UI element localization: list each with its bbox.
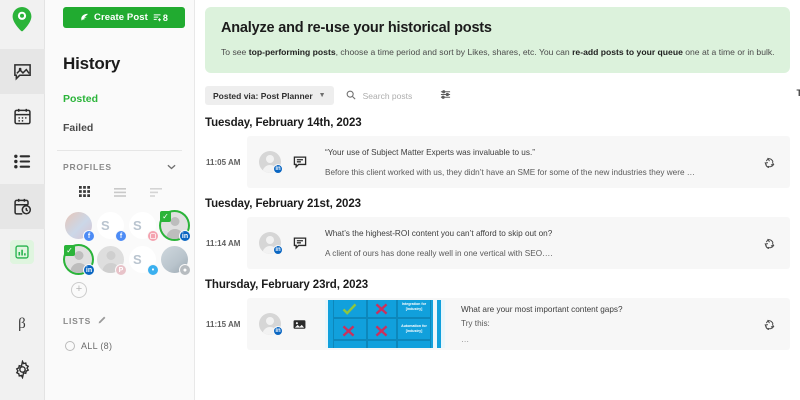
calendar-icon[interactable] [0, 94, 45, 139]
day-heading: Tuesday, February 14th, 2023 [205, 117, 800, 129]
facebook-badge-icon: f [115, 230, 127, 242]
queue-count-value: 8 [163, 13, 168, 23]
search-input[interactable] [363, 91, 433, 101]
feather-icon [80, 13, 89, 22]
posted-via-label: Posted via: Post Planner [213, 91, 313, 101]
sidebar-divider [57, 150, 182, 151]
facebook-badge-icon: f [83, 230, 95, 242]
check-icon: ✓ [160, 211, 171, 222]
profile-avatar[interactable]: S f [97, 212, 126, 241]
queue-count: 8 [153, 13, 168, 23]
instagram-badge-icon: ▢ [147, 230, 159, 242]
list-item-all[interactable]: ALL (8) [65, 341, 182, 351]
settings-gear-icon[interactable] [0, 347, 45, 392]
table-row[interactable]: 11:05 AM in “Your use of Subject Matter … [205, 136, 800, 188]
post-time: 11:15 AM [205, 298, 247, 350]
post-body: Before this client worked with us, they … [325, 168, 746, 177]
check-icon: ✓ [64, 245, 75, 256]
profile-avatar-selected[interactable]: ✓ in [161, 212, 190, 241]
profiles-section-header[interactable]: PROFILES [63, 162, 176, 172]
app-root: β Create Post 8 History Posted Failed [0, 0, 800, 400]
beta-label: β [18, 316, 26, 333]
profile-avatar[interactable]: P [97, 246, 126, 275]
search-box[interactable] [346, 86, 461, 105]
profile-view-toggles [79, 184, 182, 202]
post-body: A client of ours has done really well in… [325, 249, 746, 258]
linkedin-badge-icon: in [273, 164, 283, 174]
list-item-label: ALL (8) [81, 341, 112, 351]
queue-icon [153, 13, 162, 22]
cross-icon [375, 303, 388, 315]
icon-rail: β [0, 0, 45, 400]
lists-label: LISTS [63, 316, 91, 326]
cross-icon [375, 325, 388, 337]
sidebar-item-posted[interactable]: Posted [63, 93, 182, 105]
post-headline: What are your most important content gap… [461, 305, 746, 314]
list-icon[interactable] [0, 139, 45, 184]
profile-avatar[interactable]: f [65, 212, 94, 241]
sidebar-item-failed[interactable]: Failed [63, 122, 182, 134]
radio-icon[interactable] [65, 341, 75, 351]
post-body: Try this: [461, 319, 746, 328]
post-feed: Tuesday, February 14th, 2023 11:05 AM in… [195, 117, 800, 350]
banner-body: To see top-performing posts, choose a ti… [221, 47, 774, 58]
magnifier-icon [346, 87, 356, 105]
analytics-icon[interactable] [0, 229, 45, 274]
speech-bubble-icon [293, 155, 313, 169]
post-body-more: … [461, 335, 746, 344]
post-text: “Your use of Subject Matter Experts was … [325, 148, 746, 177]
post-card[interactable]: in What’s the highest-ROI content you ca… [247, 217, 790, 269]
table-row[interactable]: 11:15 AM in [205, 298, 800, 350]
thumb-cell-label: Automation for [industry] [397, 324, 431, 333]
analytics-icon-box [10, 240, 34, 264]
create-post-button[interactable]: Create Post 8 [63, 7, 185, 28]
banner-title: Analyze and re-use your historical posts [221, 20, 774, 36]
profile-avatar-selected[interactable]: ✓ in [65, 246, 94, 275]
banner-text-part: , choose a time period and sort by Likes… [336, 47, 572, 57]
banner-text-part: To see [221, 47, 249, 57]
day-heading: Tuesday, February 21st, 2023 [205, 198, 800, 210]
image-icon [293, 318, 313, 331]
banner-text-bold: re-add posts to your queue [572, 47, 683, 57]
media-library-icon[interactable] [0, 49, 45, 94]
profile-avatar[interactable]: S ▢ [129, 212, 158, 241]
banner-text-bold: top-performing posts [249, 47, 336, 57]
post-card[interactable]: in [247, 298, 790, 350]
sidebar: Create Post 8 History Posted Failed PROF… [45, 0, 195, 400]
cut-off-column-label: T [797, 88, 800, 98]
avatar: in [259, 151, 281, 173]
recycle-icon[interactable] [758, 238, 780, 249]
post-headline: What’s the highest-ROI content you can’t… [325, 229, 746, 238]
post-thumbnail[interactable]: Integration for [industry] Automation fo… [325, 300, 445, 348]
pinterest-badge-icon: P [115, 264, 127, 276]
chevron-down-icon[interactable]: ▼ [319, 92, 326, 99]
post-time: 11:05 AM [205, 136, 247, 188]
post-text: What’s the highest-ROI content you can’t… [325, 229, 746, 258]
add-profile-button[interactable]: + [71, 282, 87, 298]
day-heading: Thursday, February 23rd, 2023 [205, 279, 800, 291]
profile-avatar[interactable]: ● [161, 246, 190, 275]
recycle-icon[interactable] [758, 157, 780, 168]
thumb-cell-label: Integration for [industry] [397, 302, 431, 311]
avatar: in [259, 313, 281, 335]
create-post-label: Create Post [94, 12, 148, 23]
grid-view-icon[interactable] [79, 184, 90, 202]
other-badge-icon: ● [179, 264, 191, 276]
check-icon [342, 303, 357, 315]
recycle-icon[interactable] [758, 319, 780, 330]
sliders-icon[interactable] [440, 87, 451, 105]
lists-section-header: LISTS [63, 312, 176, 330]
pencil-icon[interactable] [97, 312, 106, 330]
compact-view-icon[interactable] [150, 184, 162, 202]
post-time: 11:14 AM [205, 217, 247, 269]
table-row[interactable]: 11:14 AM in What’s the highest-ROI conte… [205, 217, 800, 269]
linkedin-badge-icon: in [179, 230, 191, 242]
twitter-badge-icon: • [147, 264, 159, 276]
post-card[interactable]: in “Your use of Subject Matter Experts w… [247, 136, 790, 188]
beta-icon[interactable]: β [0, 302, 45, 347]
cross-icon [342, 325, 355, 337]
linkedin-badge-icon: in [83, 264, 95, 276]
schedule-clock-icon[interactable] [0, 184, 45, 229]
main-content: Analyze and re-use your historical posts… [195, 0, 800, 400]
filter-toolbar: Posted via: Post Planner ▼ T [205, 86, 800, 105]
avatar: in [259, 232, 281, 254]
chevron-down-icon[interactable] [167, 162, 176, 172]
info-banner: Analyze and re-use your historical posts… [205, 7, 790, 73]
speech-bubble-icon [293, 236, 313, 250]
profile-avatar[interactable]: S • [129, 246, 158, 275]
linkedin-badge-icon: in [273, 326, 283, 336]
linkedin-badge-icon: in [273, 245, 283, 255]
profiles-label: PROFILES [63, 162, 112, 172]
page-title: History [63, 54, 182, 74]
banner-text-part: one at a time or in bulk. [683, 47, 775, 57]
post-headline: “Your use of Subject Matter Experts was … [325, 148, 746, 157]
list-view-icon[interactable] [114, 184, 126, 202]
profile-avatar-grid: f S f S ▢ ✓ in ✓ in P [65, 212, 182, 275]
posted-via-dropdown[interactable]: Posted via: Post Planner ▼ [205, 86, 334, 105]
post-text: What are your most important content gap… [457, 305, 746, 344]
logo-pin-icon[interactable] [11, 6, 33, 37]
